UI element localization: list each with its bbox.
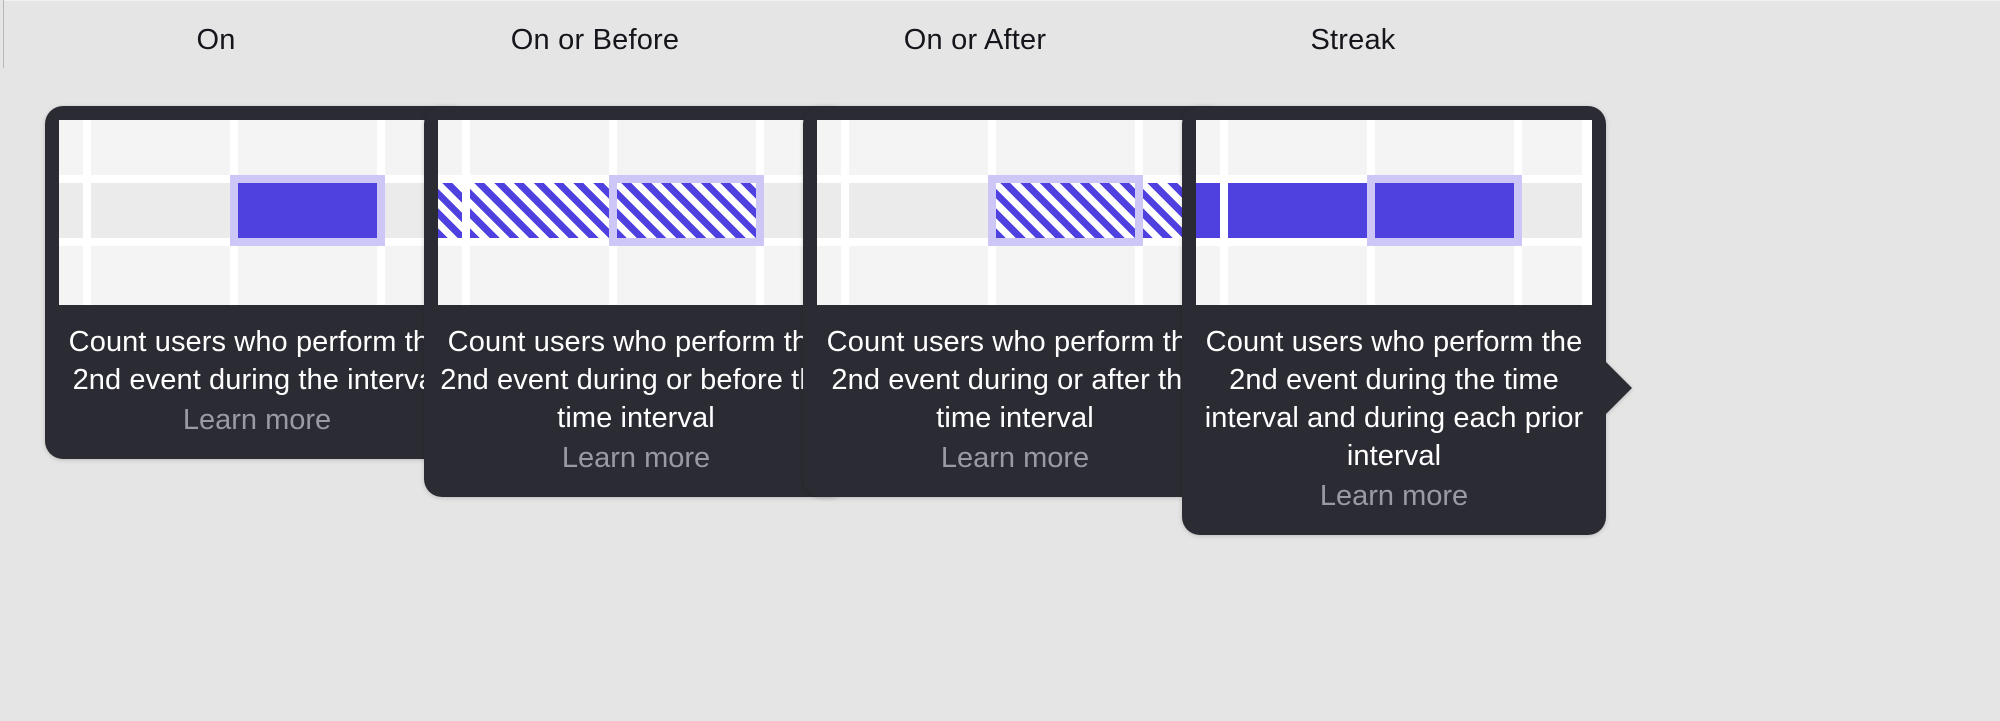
grid-cell (1228, 120, 1367, 175)
diagram-on-or-after (817, 120, 1213, 305)
grid-cell (1228, 246, 1367, 305)
grid-cell (91, 183, 230, 238)
grid-cell (238, 120, 377, 175)
grid-cell (617, 120, 756, 175)
diagram-on-or-before (438, 120, 834, 305)
card-description: Count users who perform the 2nd event du… (1196, 323, 1592, 475)
column-header-on: On (116, 24, 316, 57)
grid-cell (1196, 120, 1220, 175)
card-on-or-after[interactable]: Count users who perform the 2nd event du… (803, 106, 1227, 497)
grid-cell (817, 246, 841, 305)
grid-cell (849, 183, 988, 238)
event-fill-solid (1375, 183, 1514, 238)
grid-cell (996, 120, 1135, 175)
card-description: Count users who perform the 2nd event du… (817, 323, 1213, 437)
card-description: Count users who perform the 2nd event du… (59, 323, 455, 399)
event-fill-solid (238, 183, 377, 238)
grid-cell (1196, 246, 1220, 305)
grid-cell (59, 183, 83, 238)
diagram-streak (1196, 120, 1592, 305)
card-on[interactable]: Count users who perform the 2nd event du… (45, 106, 469, 459)
tooltip-comparison-panel: On On or Before On or After Streak Count… (0, 0, 2000, 721)
grid-cell (470, 246, 609, 305)
grid-cell (438, 120, 462, 175)
column-header-streak: Streak (1253, 24, 1453, 57)
event-fill-hatched (996, 183, 1135, 238)
grid-cell (1375, 246, 1514, 305)
event-fill-solid (1228, 183, 1367, 238)
grid-cell (91, 246, 230, 305)
grid-cell (1522, 183, 1582, 238)
card-on-or-before[interactable]: Count users who perform the 2nd event du… (424, 106, 848, 497)
learn-more-link[interactable]: Learn more (1196, 477, 1592, 515)
grid-cell (91, 120, 230, 175)
grid-cell (438, 246, 462, 305)
grid-cell (1522, 246, 1582, 305)
event-fill-hatched (470, 183, 609, 238)
learn-more-link[interactable]: Learn more (817, 439, 1213, 477)
column-header-row: On On or Before On or After Streak (0, 0, 2000, 72)
grid-cell (817, 120, 841, 175)
grid-cell (238, 246, 377, 305)
grid-cell (817, 183, 841, 238)
event-fill-solid (1196, 183, 1220, 238)
card-description: Count users who perform the 2nd event du… (438, 323, 834, 437)
learn-more-link[interactable]: Learn more (59, 401, 455, 439)
card-streak[interactable]: Count users who perform the 2nd event du… (1182, 106, 1606, 535)
grid-cell (470, 120, 609, 175)
grid-cell (996, 246, 1135, 305)
grid-cell (617, 246, 756, 305)
grid-cell (849, 246, 988, 305)
card-pointer-arrow (1606, 362, 1632, 414)
grid-cell (1375, 120, 1514, 175)
grid-cell (1522, 120, 1582, 175)
grid-cell (59, 120, 83, 175)
grid-cell (849, 120, 988, 175)
event-fill-hatched (617, 183, 756, 238)
column-header-on-or-after: On or After (875, 24, 1075, 57)
learn-more-link[interactable]: Learn more (438, 439, 834, 477)
event-fill-hatched (438, 183, 462, 238)
grid-cell (59, 246, 83, 305)
column-header-on-or-before: On or Before (495, 24, 695, 57)
diagram-on (59, 120, 455, 305)
